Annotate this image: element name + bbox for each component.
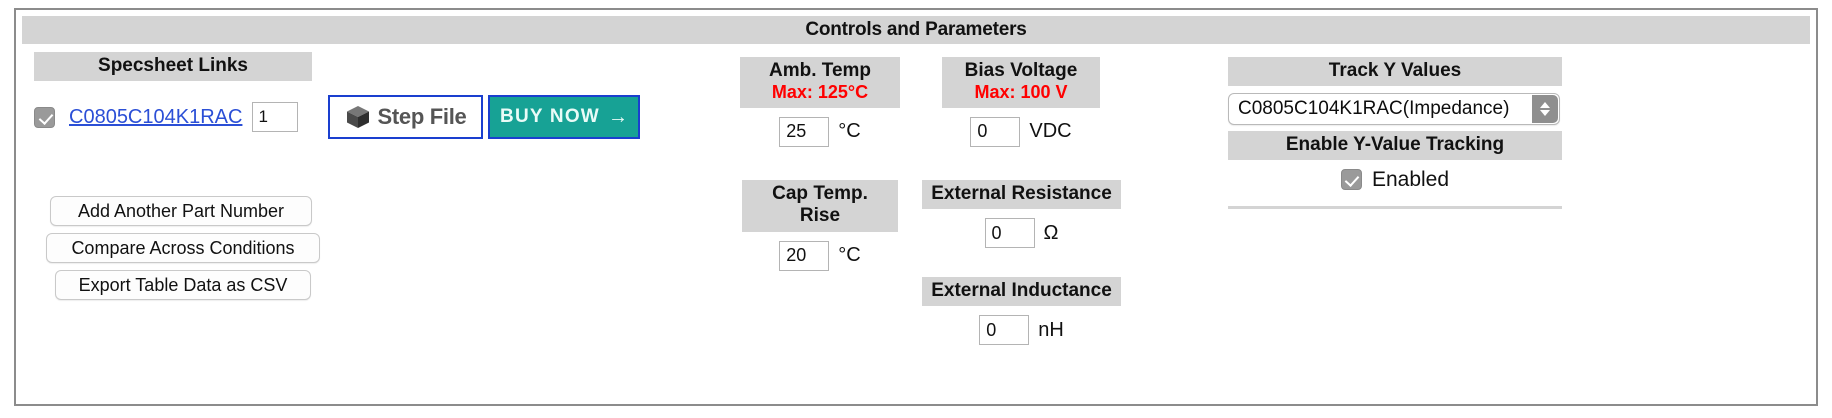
add-another-part-number-button[interactable]: Add Another Part Number	[50, 196, 312, 226]
specsheet-links-header: Specsheet Links	[34, 52, 312, 81]
specsheet-links-column: Specsheet Links C0805C104K1RAC Step File	[24, 52, 584, 81]
part-number-link[interactable]: C0805C104K1RAC	[69, 106, 242, 129]
external-resistance-unit: Ω	[1044, 222, 1059, 245]
track-y-values-column: Track Y Values C0805C104K1RAC(Impedance)…	[1228, 57, 1562, 209]
chevron-up-icon	[1540, 102, 1550, 108]
panel-title-bar: Controls and Parameters	[22, 16, 1810, 44]
part-select-checkbox[interactable]	[34, 107, 55, 128]
ambient-temperature-input-row: °C	[740, 117, 900, 147]
external-resistance-input-row: Ω	[922, 218, 1121, 248]
arrow-right-icon: →	[608, 107, 628, 127]
bias-voltage-header: Bias Voltage Max: 100 V	[942, 57, 1100, 108]
track-y-values-selected-option: C0805C104K1RAC(Impedance)	[1229, 98, 1509, 120]
bias-voltage-unit: VDC	[1029, 120, 1071, 143]
external-resistance-header: External Resistance	[922, 180, 1121, 209]
cap-temp-rise-header: Cap Temp. Rise	[742, 180, 898, 232]
enable-y-value-tracking-header: Enable Y-Value Tracking	[1228, 131, 1562, 160]
bias-voltage-parameter: Bias Voltage Max: 100 V VDC	[942, 57, 1100, 147]
track-section-divider	[1228, 206, 1562, 209]
enable-tracking-checkbox[interactable]	[1341, 169, 1362, 190]
controls-and-parameters-screen: Controls and Parameters Specsheet Links …	[0, 0, 1832, 418]
controls-panel: Controls and Parameters Specsheet Links …	[14, 8, 1818, 406]
buy-now-button[interactable]: BUY NOW →	[488, 95, 640, 139]
chevron-down-icon	[1540, 110, 1550, 116]
bias-voltage-input-row: VDC	[942, 117, 1100, 147]
export-table-data-as-csv-button[interactable]: Export Table Data as CSV	[55, 270, 311, 300]
cap-temp-rise-parameter: Cap Temp. Rise °C	[742, 180, 898, 271]
step-file-button[interactable]: Step File	[328, 95, 483, 139]
external-inductance-input-row: nH	[922, 315, 1121, 345]
bias-voltage-input[interactable]	[970, 117, 1020, 147]
bias-voltage-title: Bias Voltage	[965, 60, 1078, 81]
ambient-temperature-header: Amb. Temp Max: 125°C	[740, 57, 900, 108]
buy-now-label: BUY NOW	[500, 106, 600, 128]
enable-tracking-label: Enabled	[1372, 168, 1449, 192]
compare-across-conditions-button[interactable]: Compare Across Conditions	[46, 233, 320, 263]
external-inductance-unit: nH	[1038, 319, 1064, 342]
external-resistance-parameter: External Resistance Ω	[922, 180, 1121, 248]
external-resistance-title: External Resistance	[931, 183, 1112, 204]
external-inductance-header: External Inductance	[922, 277, 1121, 306]
select-stepper-arrows-icon[interactable]	[1532, 95, 1558, 123]
ambient-temperature-parameter: Amb. Temp Max: 125°C °C	[740, 57, 900, 147]
step-file-label: Step File	[378, 104, 467, 130]
part-number-row: C0805C104K1RAC	[34, 100, 298, 134]
ambient-temperature-input[interactable]	[779, 117, 829, 147]
ambient-temperature-unit: °C	[838, 120, 860, 143]
ambient-temperature-title: Amb. Temp	[769, 60, 871, 81]
bias-voltage-limit: Max: 100 V	[950, 82, 1092, 103]
panel-title: Controls and Parameters	[805, 19, 1026, 41]
cube-3d-icon	[345, 104, 371, 130]
cap-temp-rise-title: Cap Temp. Rise	[772, 183, 868, 226]
track-y-values-header: Track Y Values	[1228, 57, 1562, 86]
external-resistance-input[interactable]	[985, 218, 1035, 248]
enable-y-value-tracking-row: Enabled	[1228, 168, 1562, 192]
cap-temp-rise-input-row: °C	[742, 241, 898, 271]
track-y-values-select[interactable]: C0805C104K1RAC(Impedance)	[1228, 93, 1560, 125]
external-inductance-parameter: External Inductance nH	[922, 277, 1121, 345]
ambient-temperature-limit: Max: 125°C	[748, 82, 892, 103]
external-inductance-title: External Inductance	[931, 280, 1112, 301]
quantity-input[interactable]	[252, 102, 298, 132]
cap-temp-rise-unit: °C	[838, 244, 860, 267]
cap-temp-rise-input[interactable]	[779, 241, 829, 271]
external-inductance-input[interactable]	[979, 315, 1029, 345]
